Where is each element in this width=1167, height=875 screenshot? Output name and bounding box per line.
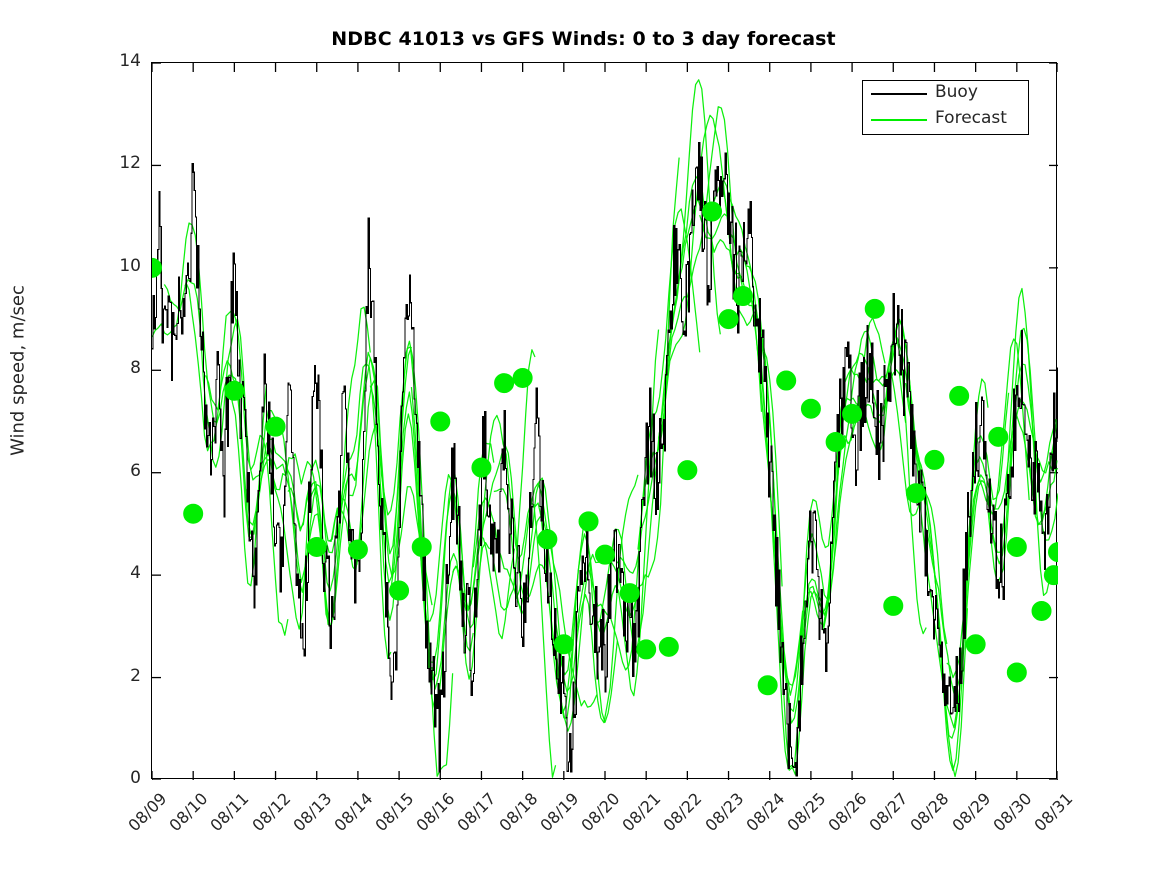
forecast-marker bbox=[538, 530, 557, 549]
forecast-marker bbox=[472, 458, 491, 477]
forecast-marker bbox=[758, 676, 777, 695]
forecast-marker bbox=[906, 484, 925, 503]
forecast-marker bbox=[925, 450, 944, 469]
legend-swatch-buoy bbox=[871, 93, 927, 95]
forecast-marker bbox=[554, 635, 573, 654]
forecast-marker bbox=[733, 287, 752, 306]
chart-legend: Buoy Forecast bbox=[862, 80, 1029, 135]
buoy-series bbox=[152, 143, 1058, 776]
chart-title: NDBC 41013 vs GFS Winds: 0 to 3 day fore… bbox=[0, 28, 1167, 50]
plot-area bbox=[151, 62, 1057, 779]
forecast-marker bbox=[579, 512, 598, 531]
forecast-marker bbox=[637, 640, 656, 659]
forecast-marker bbox=[884, 596, 903, 615]
forecast-marker bbox=[1044, 566, 1058, 585]
legend-item-buoy: Buoy bbox=[863, 81, 1028, 107]
forecast-marker bbox=[620, 584, 639, 603]
forecast-marker bbox=[843, 404, 862, 423]
forecast-marker bbox=[801, 399, 820, 418]
y-tick-label: 0 bbox=[101, 768, 141, 788]
legend-item-forecast: Forecast bbox=[863, 107, 1028, 133]
y-tick-label: 12 bbox=[101, 153, 141, 173]
forecast-marker bbox=[1032, 601, 1051, 620]
forecast-marker bbox=[950, 386, 969, 405]
y-tick-label: 6 bbox=[101, 461, 141, 481]
y-tick-label: 8 bbox=[101, 358, 141, 378]
forecast-marker bbox=[826, 432, 845, 451]
forecast-marker bbox=[152, 258, 162, 277]
forecast-marker bbox=[266, 417, 285, 436]
y-axis-label: Wind speed, m/sec bbox=[8, 161, 29, 581]
legend-label-buoy: Buoy bbox=[935, 82, 978, 102]
forecast-marker bbox=[495, 374, 514, 393]
forecast-marker bbox=[431, 412, 450, 431]
y-tick-label: 10 bbox=[101, 256, 141, 276]
legend-swatch-forecast bbox=[871, 119, 927, 121]
forecast-marker bbox=[307, 537, 326, 556]
forecast-marker bbox=[225, 381, 244, 400]
y-tick-label: 4 bbox=[101, 563, 141, 583]
legend-label-forecast: Forecast bbox=[935, 108, 1007, 128]
chart-figure: NDBC 41013 vs GFS Winds: 0 to 3 day fore… bbox=[0, 0, 1167, 875]
forecast-marker bbox=[596, 545, 615, 564]
forecast-marker bbox=[659, 637, 678, 656]
forecast-marker bbox=[513, 368, 532, 387]
plot-canvas bbox=[152, 63, 1058, 780]
forecast-marker bbox=[719, 310, 738, 329]
forecast-marker bbox=[1049, 543, 1059, 562]
y-tick-label: 14 bbox=[101, 51, 141, 71]
forecast-marker bbox=[390, 581, 409, 600]
forecast-marker bbox=[703, 202, 722, 221]
forecast-marker bbox=[1007, 663, 1026, 682]
forecast-marker bbox=[348, 540, 367, 559]
forecast-marker bbox=[678, 461, 697, 480]
forecast-marker bbox=[412, 537, 431, 556]
forecast-marker bbox=[1007, 537, 1026, 556]
forecast-marker bbox=[777, 371, 796, 390]
y-tick-label: 2 bbox=[101, 666, 141, 686]
forecast-marker bbox=[989, 427, 1008, 446]
forecast-marker bbox=[865, 299, 884, 318]
forecast-marker bbox=[184, 504, 203, 523]
forecast-marker bbox=[966, 635, 985, 654]
